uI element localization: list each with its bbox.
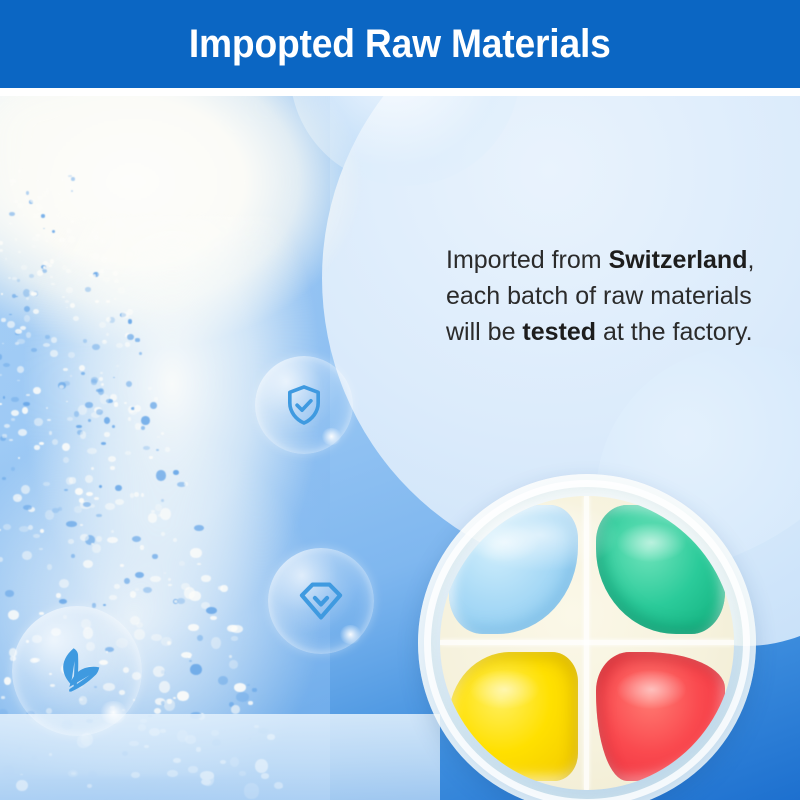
badge-bubble-leaf bbox=[12, 606, 142, 736]
header-bar: Impopted Raw Materials bbox=[0, 0, 800, 88]
pod-highlight bbox=[617, 523, 687, 562]
pod-highlight bbox=[470, 523, 540, 562]
caption-line3-post: at the factory. bbox=[596, 318, 753, 346]
caption-text: Imported from Switzerland, each batch of… bbox=[446, 242, 796, 350]
caption-switzerland: Switzerland bbox=[609, 246, 748, 274]
caption-line2: each batch of raw materials bbox=[446, 282, 752, 310]
product-image bbox=[418, 474, 756, 800]
pod-highlight bbox=[470, 670, 540, 709]
page-title: Impopted Raw Materials bbox=[189, 24, 611, 64]
pod-top-right bbox=[596, 505, 725, 634]
product-banner: Impopted Raw Materials Imported from Swi… bbox=[0, 0, 800, 800]
caption-tested: tested bbox=[522, 318, 596, 346]
caption-line3-pre: will be bbox=[446, 318, 522, 346]
shield-check-icon bbox=[281, 382, 327, 428]
header-divider bbox=[0, 88, 800, 96]
badge-bubble-shield bbox=[255, 356, 353, 454]
pod-bottom-left bbox=[449, 652, 578, 781]
pod-top-left bbox=[449, 505, 578, 634]
pod-bottom-right bbox=[596, 652, 725, 781]
tub-inner-tray bbox=[440, 496, 734, 790]
tray-divider-horizontal bbox=[440, 640, 734, 645]
caption-line1-post: , bbox=[747, 246, 754, 274]
pod-highlight bbox=[617, 670, 687, 709]
caption-line1-pre: Imported from bbox=[446, 246, 609, 274]
badge-bubble-diamond bbox=[268, 548, 374, 654]
leaf-icon bbox=[46, 640, 108, 702]
banner-canvas: Imported from Switzerland, each batch of… bbox=[0, 96, 800, 800]
diamond-check-icon bbox=[295, 575, 347, 627]
